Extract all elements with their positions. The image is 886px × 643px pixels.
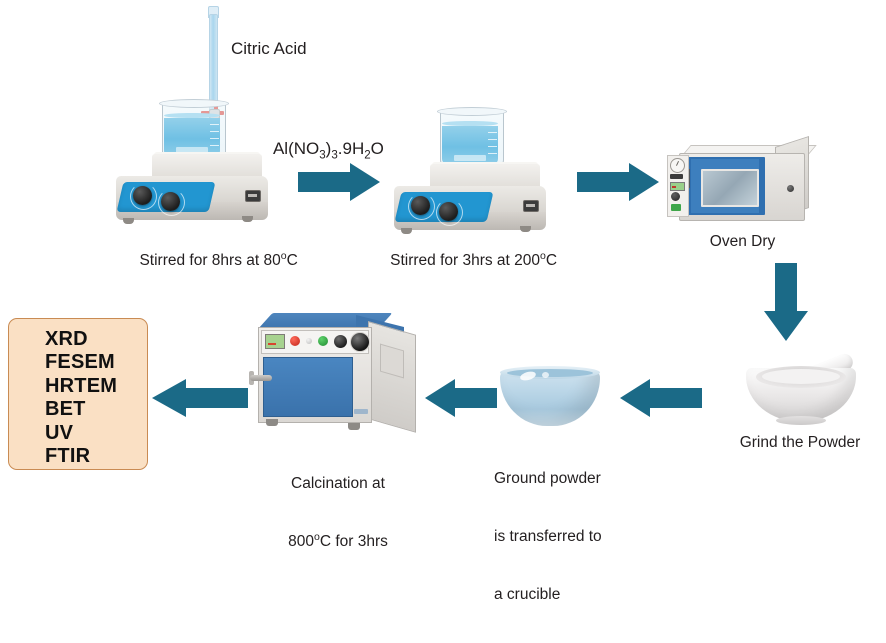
step-6-caption-line-2: 800oC for 3hrs <box>243 532 433 551</box>
beaker-liquid-surface <box>164 113 220 118</box>
furnace-indicator-light <box>306 338 312 344</box>
step-5-caption-line-2: is transferred to <box>494 527 674 546</box>
laboratory-oven-icon <box>665 139 820 227</box>
arrow-left-furnace-to-results <box>152 379 248 417</box>
oven-control-knob <box>671 192 680 201</box>
furnace-small-knob <box>334 335 347 348</box>
technique-bet: BET <box>45 398 117 421</box>
oven-power-indicator <box>671 204 681 211</box>
arrow-right-stirrer1-to-stirrer2 <box>298 163 380 201</box>
technique-xrd: XRD <box>45 328 117 351</box>
step-5-caption-line-1: Ground powder <box>494 469 674 488</box>
arrow-left-crucible-to-furnace <box>425 379 497 417</box>
step-6-caption: Calcination at 800oC for 3hrs <box>243 435 433 590</box>
beaker-graduation <box>488 132 497 133</box>
furnace-logo <box>354 409 368 414</box>
oven-display <box>670 182 685 191</box>
stirrer-heat-knob <box>439 202 458 221</box>
stirrer-foot <box>242 216 253 222</box>
furnace-side-panel <box>368 321 416 433</box>
furnace-stop-button <box>290 336 300 346</box>
beaker-graduation <box>210 124 219 125</box>
beaker-graduation <box>488 153 497 154</box>
oven-pressure-gauge-icon <box>670 158 685 173</box>
stirrer-speed-knob <box>411 196 430 215</box>
crucible-highlight-small <box>542 372 549 378</box>
results-box: XRD FESEM HRTEM BET UV FTIR <box>8 318 148 470</box>
oven-side-valve <box>787 185 794 192</box>
stirrer-power-switch <box>523 200 539 212</box>
step-2-caption-pre: Stirred for 3hrs at 200 <box>390 252 540 269</box>
step-6-caption-line-2-post: C for 3hrs <box>320 533 388 550</box>
arrow-right-stirrer2-to-oven <box>577 163 659 201</box>
formula-part-4: O <box>371 139 384 158</box>
furnace-door <box>263 357 353 417</box>
muffle-furnace-icon <box>248 313 423 435</box>
beaker-graduation <box>210 145 219 146</box>
arrow-down-oven-to-mortar <box>764 263 808 341</box>
characterization-techniques-list: XRD FESEM HRTEM BET UV FTIR <box>45 328 117 468</box>
beaker-liquid-surface <box>442 121 498 126</box>
beaker-rim <box>437 107 507 116</box>
furnace-foot <box>266 419 278 426</box>
stirrer-power-switch <box>245 190 261 202</box>
mortar-base <box>776 416 826 425</box>
furnace-start-button <box>318 336 328 346</box>
step-3-caption: Oven Dry <box>655 232 830 251</box>
step-1-caption-pre: Stirred for 8hrs at 80 <box>139 252 280 269</box>
beaker-1-icon <box>162 102 224 158</box>
step-4-caption: Grind the Powder <box>715 433 885 452</box>
beaker-label-patch <box>454 155 486 161</box>
beaker-graduation <box>488 139 497 140</box>
beaker-rim <box>159 99 229 108</box>
step-6-temp-value: 800 <box>288 533 314 550</box>
technique-fesem: FESEM <box>45 351 117 374</box>
step-2-caption-post: C <box>546 252 557 269</box>
beaker-2-icon <box>440 110 502 166</box>
step-2-caption: Stirred for 3hrs at 200oC <box>345 232 585 290</box>
arrow-left-mortar-to-crucible <box>620 379 702 417</box>
step-5-caption-line-3: a crucible <box>494 585 674 604</box>
crucible-bowl-icon <box>500 366 600 428</box>
beaker-graduation <box>210 138 219 139</box>
formula-part-3: .9H <box>338 139 364 158</box>
oven-window <box>701 169 759 207</box>
stirrer-heat-knob <box>161 192 180 211</box>
hotplate-stirrer-2-icon <box>388 120 558 240</box>
furnace-foot <box>348 423 360 430</box>
furnace-door-handle <box>250 375 272 381</box>
step-6-caption-line-1: Calcination at <box>243 474 433 493</box>
step-1-caption-post: C <box>287 252 298 269</box>
flow-diagram-canvas: Citric Acid Al(NO3)3.9H2O Stirred f <box>0 0 886 481</box>
technique-hrtem: HRTEM <box>45 375 117 398</box>
furnace-temperature-display <box>265 334 285 349</box>
technique-ftir: FTIR <box>45 445 117 468</box>
step-5-caption: Ground powder is transferred to a crucib… <box>494 430 674 643</box>
stirrer-foot <box>123 218 134 224</box>
stirrer-speed-knob <box>133 186 152 205</box>
furnace-main-knob <box>350 332 370 352</box>
mortar-cavity <box>762 369 840 384</box>
mortar-and-pestle-icon <box>738 350 866 426</box>
oven-panel-slot <box>670 174 683 179</box>
beaker-graduation <box>488 146 497 147</box>
technique-uv: UV <box>45 422 117 445</box>
step-1-caption: Stirred for 8hrs at 80oC <box>100 232 320 290</box>
formula-part-1: Al(NO <box>273 139 319 158</box>
beaker-graduation <box>210 131 219 132</box>
citric-acid-label: Citric Acid <box>231 38 307 59</box>
